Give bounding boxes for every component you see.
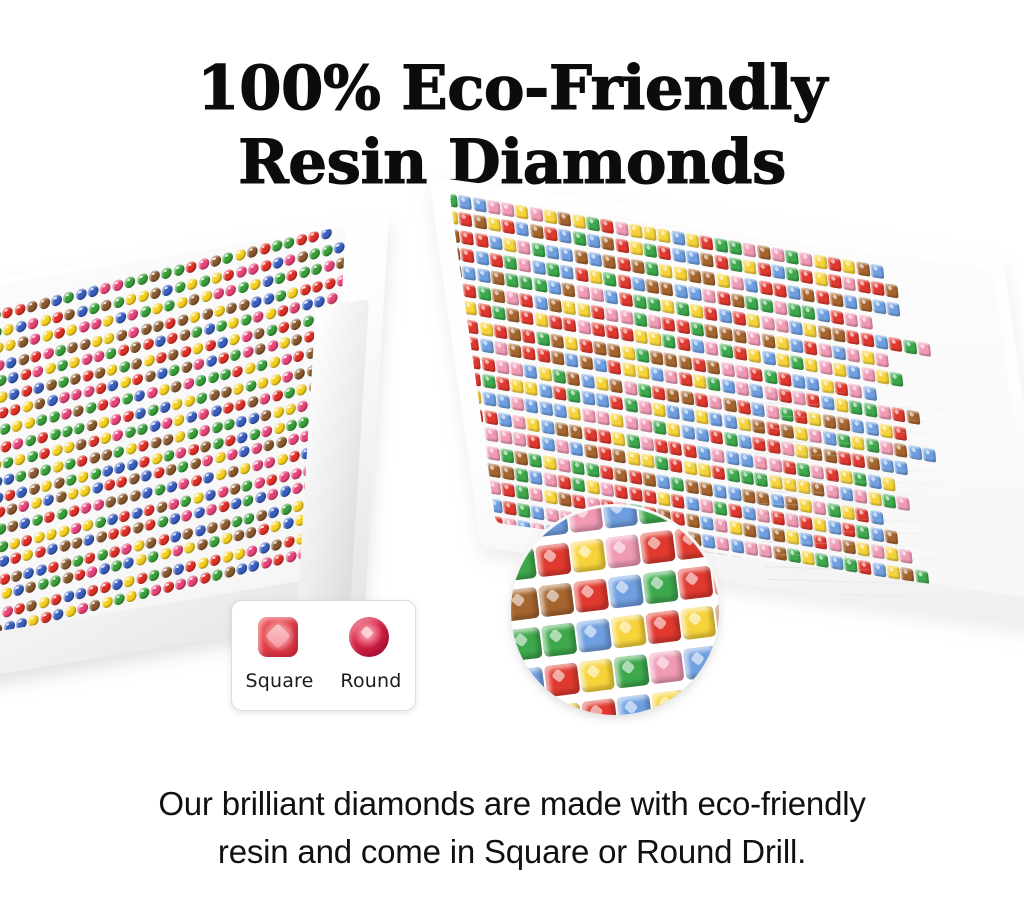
- drill-bead: [662, 334, 676, 349]
- drill-bead: [146, 536, 157, 550]
- drill-bead: [153, 466, 164, 480]
- drill-bead: [699, 235, 713, 250]
- drill-bead: [916, 341, 930, 356]
- drill-bead: [847, 365, 861, 380]
- drill-bead: [222, 550, 233, 564]
- drill-bead: [671, 507, 708, 520]
- drill-bead: [39, 297, 50, 311]
- drill-bead: [43, 346, 54, 360]
- drill-bead: [463, 283, 477, 298]
- drill-bead: [268, 506, 279, 520]
- drill-bead: [145, 370, 156, 384]
- drill-bead: [772, 282, 786, 297]
- drill-bead: [206, 503, 217, 517]
- drill-bead: [487, 217, 501, 232]
- drill-bead: [639, 418, 653, 433]
- drill-bead: [161, 266, 172, 280]
- drill-bead: [592, 340, 606, 355]
- drill-bead: [194, 506, 205, 520]
- drill-bead: [292, 333, 303, 347]
- drill-bead: [101, 595, 112, 609]
- drill-bead: [488, 235, 502, 250]
- drill-bead: [116, 328, 127, 342]
- round-tray-inner: [0, 226, 346, 641]
- drill-bead: [2, 306, 13, 320]
- drill-bead: [250, 278, 261, 292]
- drill-bead: [230, 497, 241, 511]
- drill-bead: [677, 336, 691, 351]
- drill-bead: [17, 485, 28, 499]
- drill-bead: [543, 472, 557, 487]
- drill-bead: [700, 253, 714, 268]
- drill-bead: [483, 410, 497, 425]
- drill-bead: [141, 322, 152, 336]
- drill-bead: [566, 371, 580, 386]
- drill-bead: [494, 341, 508, 356]
- drill-bead: [574, 267, 588, 282]
- drill-bead: [686, 685, 719, 715]
- drill-bead: [92, 481, 103, 495]
- drill-bead: [235, 398, 246, 412]
- drill-bead: [154, 482, 165, 496]
- drill-bead: [643, 243, 657, 258]
- drill-bead: [703, 305, 717, 320]
- drill-bead: [259, 541, 270, 555]
- page-title: 100% Eco-Friendly Resin Diamonds: [0, 52, 1024, 200]
- drill-bead: [73, 554, 84, 568]
- drill-bead: [52, 311, 63, 325]
- drill-bead: [36, 563, 47, 577]
- drill-bead: [150, 286, 161, 300]
- drill-bead: [496, 376, 510, 391]
- drill-bead: [158, 383, 169, 397]
- drill-bead: [538, 583, 575, 618]
- drill-bead: [88, 583, 99, 597]
- drill-bead: [599, 464, 613, 479]
- drill-bead: [857, 279, 871, 294]
- drill-bead: [263, 292, 274, 306]
- drill-bead: [150, 583, 161, 597]
- drill-bead: [56, 358, 67, 372]
- drill-bead: [86, 418, 97, 432]
- drill-bead: [694, 409, 708, 424]
- drill-bead: [0, 475, 2, 489]
- drill-bead: [671, 230, 685, 245]
- drill-bead: [285, 550, 296, 564]
- drill-bead: [207, 371, 218, 385]
- drill-bead: [500, 465, 514, 480]
- drill-bead: [22, 400, 33, 414]
- drill-bead: [600, 482, 614, 497]
- drill-bead: [552, 368, 566, 383]
- drill-bead: [285, 253, 296, 267]
- drill-bead: [210, 404, 221, 418]
- drill-bead: [479, 321, 493, 336]
- drill-bead: [549, 315, 563, 330]
- drill-bead: [202, 307, 213, 321]
- drill-bead: [133, 373, 144, 387]
- drill-bead: [282, 517, 293, 531]
- drill-bead: [51, 443, 62, 457]
- drill-bead: [491, 288, 505, 303]
- drill-bead: [0, 506, 5, 520]
- drill-bead: [194, 357, 205, 371]
- drill-bead: [709, 521, 719, 556]
- drill-bead: [505, 290, 519, 305]
- drill-bead: [24, 566, 35, 580]
- drill-bead: [103, 314, 114, 328]
- drill-bead: [498, 429, 512, 444]
- drill-bead: [544, 227, 558, 242]
- drill-bead: [604, 289, 618, 304]
- drill-bead: [6, 355, 17, 369]
- drill-bead: [616, 694, 653, 715]
- drill-bead: [499, 448, 513, 463]
- drill-bead: [127, 458, 138, 472]
- drill-bead: [668, 440, 682, 455]
- drill-bead: [93, 349, 104, 363]
- drill-bead: [573, 578, 610, 613]
- drill-bead: [45, 527, 56, 541]
- drill-bead: [286, 419, 297, 433]
- drill-bead: [131, 506, 142, 520]
- drill-bead: [632, 294, 646, 309]
- drill-bead: [617, 274, 631, 289]
- drill-bead: [688, 286, 702, 301]
- drill-bead: [715, 255, 729, 270]
- drill-bead: [696, 445, 710, 460]
- drill-bead: [126, 442, 137, 456]
- legend-label-round: Round: [340, 670, 401, 692]
- drill-bead: [182, 360, 193, 374]
- drill-bead: [122, 392, 133, 406]
- drill-bead: [650, 367, 664, 382]
- drill-bead: [258, 376, 269, 390]
- drill-bead: [39, 446, 50, 460]
- drill-bead: [581, 390, 595, 405]
- drill-bead: [756, 245, 770, 260]
- drill-bead: [165, 463, 176, 477]
- drill-bead: [185, 559, 196, 573]
- drill-bead: [209, 388, 220, 402]
- drill-bead: [254, 476, 265, 490]
- drill-bead: [142, 337, 153, 351]
- drill-bead: [190, 457, 201, 471]
- drill-bead: [697, 463, 711, 478]
- drill-bead: [75, 288, 86, 302]
- drill-bead: [107, 363, 118, 377]
- drill-bead: [653, 420, 667, 435]
- drill-bead: [171, 380, 182, 394]
- drill-bead: [62, 572, 73, 586]
- drill-bead: [585, 462, 599, 477]
- drill-bead: [628, 223, 642, 238]
- drill-bead: [606, 325, 620, 340]
- drill-bead: [247, 544, 258, 558]
- drill-bead: [787, 303, 801, 318]
- drill-bead: [463, 301, 477, 316]
- drill-bead: [687, 268, 701, 283]
- drill-bead: [10, 551, 21, 565]
- drill-bead: [680, 605, 717, 640]
- drill-bead: [309, 247, 320, 261]
- drill-bead: [579, 658, 616, 693]
- drill-bead: [219, 518, 230, 532]
- drill-bead: [500, 202, 514, 217]
- drill-bead: [103, 464, 114, 478]
- drill-bead: [692, 357, 706, 372]
- drill-bead: [513, 432, 527, 447]
- drill-bead: [225, 284, 236, 298]
- drill-bead: [578, 338, 592, 353]
- drill-bead: [62, 424, 73, 438]
- drill-bead: [459, 212, 473, 227]
- drill-bead: [743, 523, 757, 538]
- drill-bead: [75, 586, 86, 600]
- drill-bead: [139, 455, 150, 469]
- drill-bead: [616, 256, 630, 271]
- drill-bead: [82, 518, 93, 532]
- drill-bead: [594, 375, 608, 390]
- drill-bead: [301, 298, 312, 312]
- drill-bead: [168, 497, 179, 511]
- drill-bead: [526, 417, 540, 432]
- drill-bead: [116, 475, 127, 489]
- drill-bead: [160, 547, 171, 561]
- drill-bead: [173, 263, 184, 277]
- drill-bead: [600, 219, 614, 234]
- drill-bead: [0, 374, 6, 388]
- drill-bead: [124, 425, 135, 439]
- drill-bead: [258, 523, 269, 537]
- drill-bead: [620, 327, 634, 342]
- drill-bead: [673, 266, 687, 281]
- square-drill-icon: [258, 617, 298, 657]
- drill-bead: [613, 467, 627, 482]
- drill-bead: [845, 329, 859, 344]
- drill-bead: [13, 584, 24, 598]
- drill-bead: [112, 428, 123, 442]
- drill-bead: [2, 456, 13, 470]
- drill-bead: [588, 251, 602, 266]
- drill-bead: [685, 233, 699, 248]
- drill-bead: [187, 277, 198, 291]
- drill-bead: [207, 521, 218, 535]
- drill-bead: [232, 365, 243, 379]
- drill-bead: [86, 565, 97, 579]
- drill-bead: [888, 336, 902, 351]
- drill-bead: [105, 346, 116, 360]
- drill-bead: [137, 272, 148, 286]
- drill-bead: [228, 316, 239, 330]
- drill-bead: [609, 395, 623, 410]
- drill-bead: [1, 587, 12, 601]
- drill-bead: [11, 569, 22, 583]
- drill-bead: [245, 379, 256, 393]
- drill-bead: [832, 345, 846, 360]
- drill-bead: [789, 338, 803, 353]
- drill-bead: [88, 284, 99, 298]
- drill-bead: [607, 360, 621, 375]
- drill-bead: [714, 238, 728, 253]
- drill-bead: [586, 479, 600, 494]
- drill-bead: [85, 401, 96, 415]
- legend-labels: Square Round: [232, 665, 415, 697]
- drill-bead: [104, 478, 115, 492]
- drill-bead: [240, 461, 251, 475]
- drill-bead: [516, 222, 530, 237]
- drill-bead: [29, 482, 40, 496]
- drill-bead: [584, 444, 598, 459]
- drill-bead: [229, 482, 240, 496]
- drill-bead: [683, 645, 719, 680]
- drill-bead: [114, 296, 125, 310]
- drill-bead: [14, 453, 25, 467]
- drill-bead: [124, 574, 135, 588]
- drill-bead: [509, 361, 523, 376]
- drill-bead: [817, 324, 831, 339]
- drill-bead: [41, 330, 52, 344]
- drill-bead: [20, 516, 31, 530]
- drill-bead: [14, 303, 25, 317]
- drill-bead: [730, 275, 744, 290]
- drill-bead: [211, 271, 222, 285]
- drill-bead: [192, 342, 203, 356]
- drill-bead: [183, 527, 194, 541]
- drill-bead: [37, 430, 48, 444]
- drill-bead: [111, 412, 122, 426]
- drill-bead: [289, 301, 300, 315]
- drill-bead: [225, 434, 236, 448]
- drill-bead: [527, 434, 541, 449]
- drill-bead: [580, 373, 594, 388]
- drill-bead: [24, 417, 35, 431]
- drill-bead: [211, 568, 222, 582]
- drill-bead: [518, 258, 532, 273]
- drill-bead: [630, 258, 644, 273]
- drill-bead: [535, 543, 572, 578]
- drill-bead: [651, 385, 665, 400]
- drill-bead: [209, 535, 220, 549]
- drill-bead: [15, 469, 26, 483]
- drill-bead: [226, 448, 237, 462]
- drill-bead: [108, 379, 119, 393]
- drill-bead: [626, 451, 640, 466]
- drill-bead: [583, 426, 597, 441]
- drill-bead: [191, 325, 202, 339]
- drill-bead: [262, 425, 273, 439]
- drill-bead: [790, 355, 804, 370]
- drill-bead: [760, 315, 774, 330]
- drill-bead: [537, 366, 551, 381]
- drill-bead: [48, 411, 59, 425]
- drill-bead: [816, 307, 830, 322]
- drill-bead: [0, 459, 1, 473]
- drill-bead: [642, 489, 656, 504]
- drill-bead: [636, 365, 650, 380]
- drill-bead: [216, 319, 227, 333]
- drill-bead: [683, 460, 697, 475]
- drill-bead: [623, 397, 637, 412]
- drill-bead: [195, 374, 206, 388]
- drill-bead: [733, 346, 747, 361]
- drill-bead: [180, 494, 191, 508]
- drill-bead: [621, 345, 635, 360]
- drill-bead: [713, 483, 727, 498]
- drill-bead: [128, 472, 139, 486]
- drill-bead: [32, 364, 43, 378]
- drill-bead: [0, 554, 9, 568]
- drill-bead: [558, 492, 572, 507]
- drill-bead: [532, 507, 569, 537]
- drill-bead: [478, 303, 492, 318]
- drill-bead: [712, 465, 726, 480]
- drill-bead: [109, 395, 120, 409]
- drill-bead: [235, 248, 246, 262]
- drill-bead: [64, 457, 75, 471]
- drill-bead: [251, 295, 262, 309]
- drill-bead: [605, 534, 642, 569]
- drill-bead: [0, 423, 10, 437]
- drill-bead: [233, 529, 244, 543]
- drill-bead: [872, 299, 886, 314]
- drill-bead: [134, 539, 145, 553]
- drill-bead: [608, 574, 645, 609]
- drill-bead: [706, 359, 720, 374]
- drill-bead: [217, 485, 228, 499]
- drill-bead: [130, 489, 141, 503]
- drill-bead: [615, 238, 629, 253]
- drill-bead: [256, 359, 267, 373]
- drill-bead: [571, 477, 585, 492]
- drill-bead: [561, 282, 575, 297]
- drill-bead: [191, 473, 202, 487]
- drill-bead: [149, 568, 160, 582]
- drill-bead: [97, 548, 108, 562]
- drill-bead: [504, 272, 518, 287]
- drill-bead: [119, 509, 130, 523]
- drill-bead: [171, 530, 182, 544]
- headline-line-1: 100% Eco-Friendly: [197, 53, 827, 124]
- drill-bead: [2, 604, 13, 618]
- drill-bead: [629, 241, 643, 256]
- drill-bead: [89, 451, 100, 465]
- drill-bead: [80, 337, 91, 351]
- drill-bead: [634, 329, 648, 344]
- drill-bead: [323, 260, 334, 274]
- drill-bead: [458, 195, 472, 210]
- drill-bead: [119, 360, 130, 374]
- drill-bead: [63, 291, 74, 305]
- drill-bead: [0, 390, 8, 404]
- drill-bead: [708, 394, 722, 409]
- drill-bead: [698, 481, 712, 496]
- drill-bead: [475, 250, 489, 265]
- drill-bead: [127, 308, 138, 322]
- drill-bead: [640, 453, 654, 468]
- drill-bead: [619, 309, 633, 324]
- drill-bead: [40, 610, 51, 624]
- drill-bead: [731, 310, 745, 325]
- drill-bead: [586, 216, 600, 231]
- caption-line-2: resin and come in Square or Round Drill.: [0, 828, 1024, 876]
- drill-bead: [275, 436, 286, 450]
- drill-bead: [636, 507, 673, 525]
- drill-bead: [224, 418, 235, 432]
- drill-bead: [60, 557, 71, 571]
- drill-bead: [288, 433, 299, 447]
- drill-bead: [105, 495, 116, 509]
